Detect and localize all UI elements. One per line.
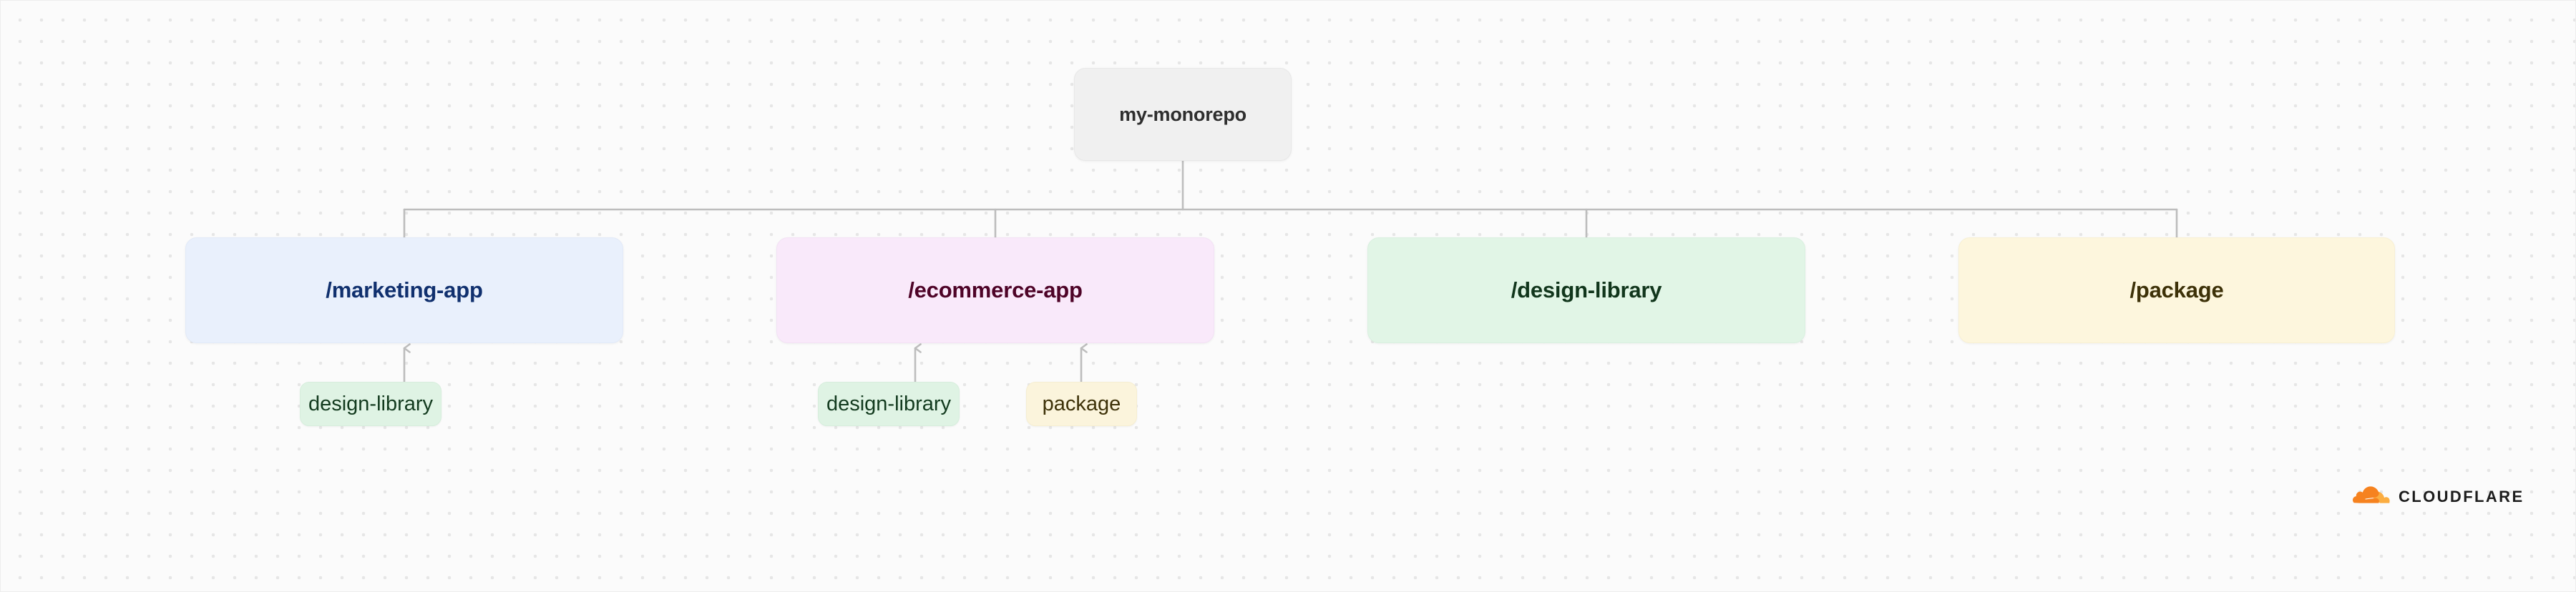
cloudflare-cloud-icon (2353, 485, 2391, 508)
node-design-library[interactable]: /design-library (1367, 237, 1805, 343)
dependency-pill-design-library-ecommerce[interactable]: design-library (818, 382, 960, 426)
node-package[interactable]: /package (1958, 237, 2395, 343)
dependency-label: design-library (826, 393, 951, 416)
diagram-canvas: my-monorepo /marketing-app /ecommerce-ap… (0, 0, 2576, 592)
dependency-pill-package-ecommerce[interactable]: package (1026, 382, 1137, 426)
dependency-pill-design-library-marketing[interactable]: design-library (300, 382, 441, 426)
node-label: /design-library (1511, 277, 1662, 303)
node-my-monorepo[interactable]: my-monorepo (1074, 68, 1292, 161)
node-label: /ecommerce-app (908, 277, 1083, 303)
cloudflare-logo: CLOUDFLARE (2353, 485, 2524, 508)
dependency-label: design-library (308, 393, 433, 416)
node-label: /marketing-app (326, 277, 482, 303)
node-ecommerce-app[interactable]: /ecommerce-app (776, 237, 1214, 343)
node-label: /package (2129, 277, 2223, 303)
node-label: my-monorepo (1119, 104, 1246, 126)
cloudflare-wordmark: CLOUDFLARE (2399, 488, 2524, 506)
node-marketing-app[interactable]: /marketing-app (185, 237, 623, 343)
dependency-label: package (1043, 393, 1121, 416)
